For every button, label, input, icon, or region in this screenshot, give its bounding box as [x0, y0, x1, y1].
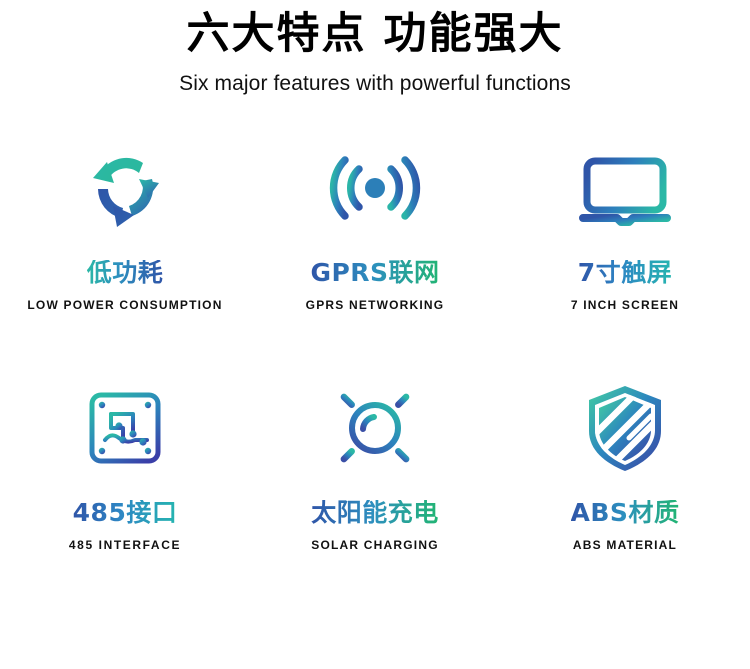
page-title: 六大特点 功能强大	[0, 8, 750, 62]
page-subtitle: Six major features with powerful functio…	[0, 72, 750, 96]
feature-title: 低功耗	[87, 260, 164, 285]
cpu-chip-icon	[75, 372, 175, 484]
feature-subtitle: 7 INCH SCREEN	[571, 298, 679, 312]
feature-subtitle: GPRS NETWORKING	[306, 298, 445, 312]
feature-title: 485接口	[73, 500, 178, 525]
feature-item-gprs: GPRS联网 GPRS NETWORKING	[250, 132, 500, 372]
feature-subtitle: 485 INTERFACE	[69, 538, 181, 552]
sun-solar-icon	[323, 372, 427, 484]
feature-subtitle: SOLAR CHARGING	[311, 538, 438, 552]
feature-subtitle: ABS MATERIAL	[573, 538, 677, 552]
laptop-screen-icon	[573, 132, 677, 244]
feature-title: 7寸触屏	[578, 260, 672, 285]
shield-stripes-icon	[573, 372, 677, 484]
feature-subtitle: LOW POWER CONSUMPTION	[27, 298, 222, 312]
feature-item-485: 485接口 485 INTERFACE	[0, 372, 250, 612]
wifi-signal-icon	[323, 132, 427, 244]
feature-item-screen: 7寸触屏 7 INCH SCREEN	[500, 132, 750, 372]
page-header: 六大特点 功能强大 Six major features with powerf…	[0, 0, 750, 96]
feature-item-low-power: 低功耗 LOW POWER CONSUMPTION	[0, 132, 250, 372]
feature-title: ABS材质	[571, 500, 680, 525]
feature-item-abs: ABS材质 ABS MATERIAL	[500, 372, 750, 612]
feature-item-solar: 太阳能充电 SOLAR CHARGING	[250, 372, 500, 612]
feature-grid: 低功耗 LOW POWER CONSUMPTION	[0, 132, 750, 612]
feature-title: GPRS联网	[310, 260, 439, 285]
recycle-arrows-icon	[73, 132, 177, 244]
feature-title: 太阳能充电	[311, 500, 439, 525]
feature-showcase-page: 六大特点 功能强大 Six major features with powerf…	[0, 0, 750, 669]
